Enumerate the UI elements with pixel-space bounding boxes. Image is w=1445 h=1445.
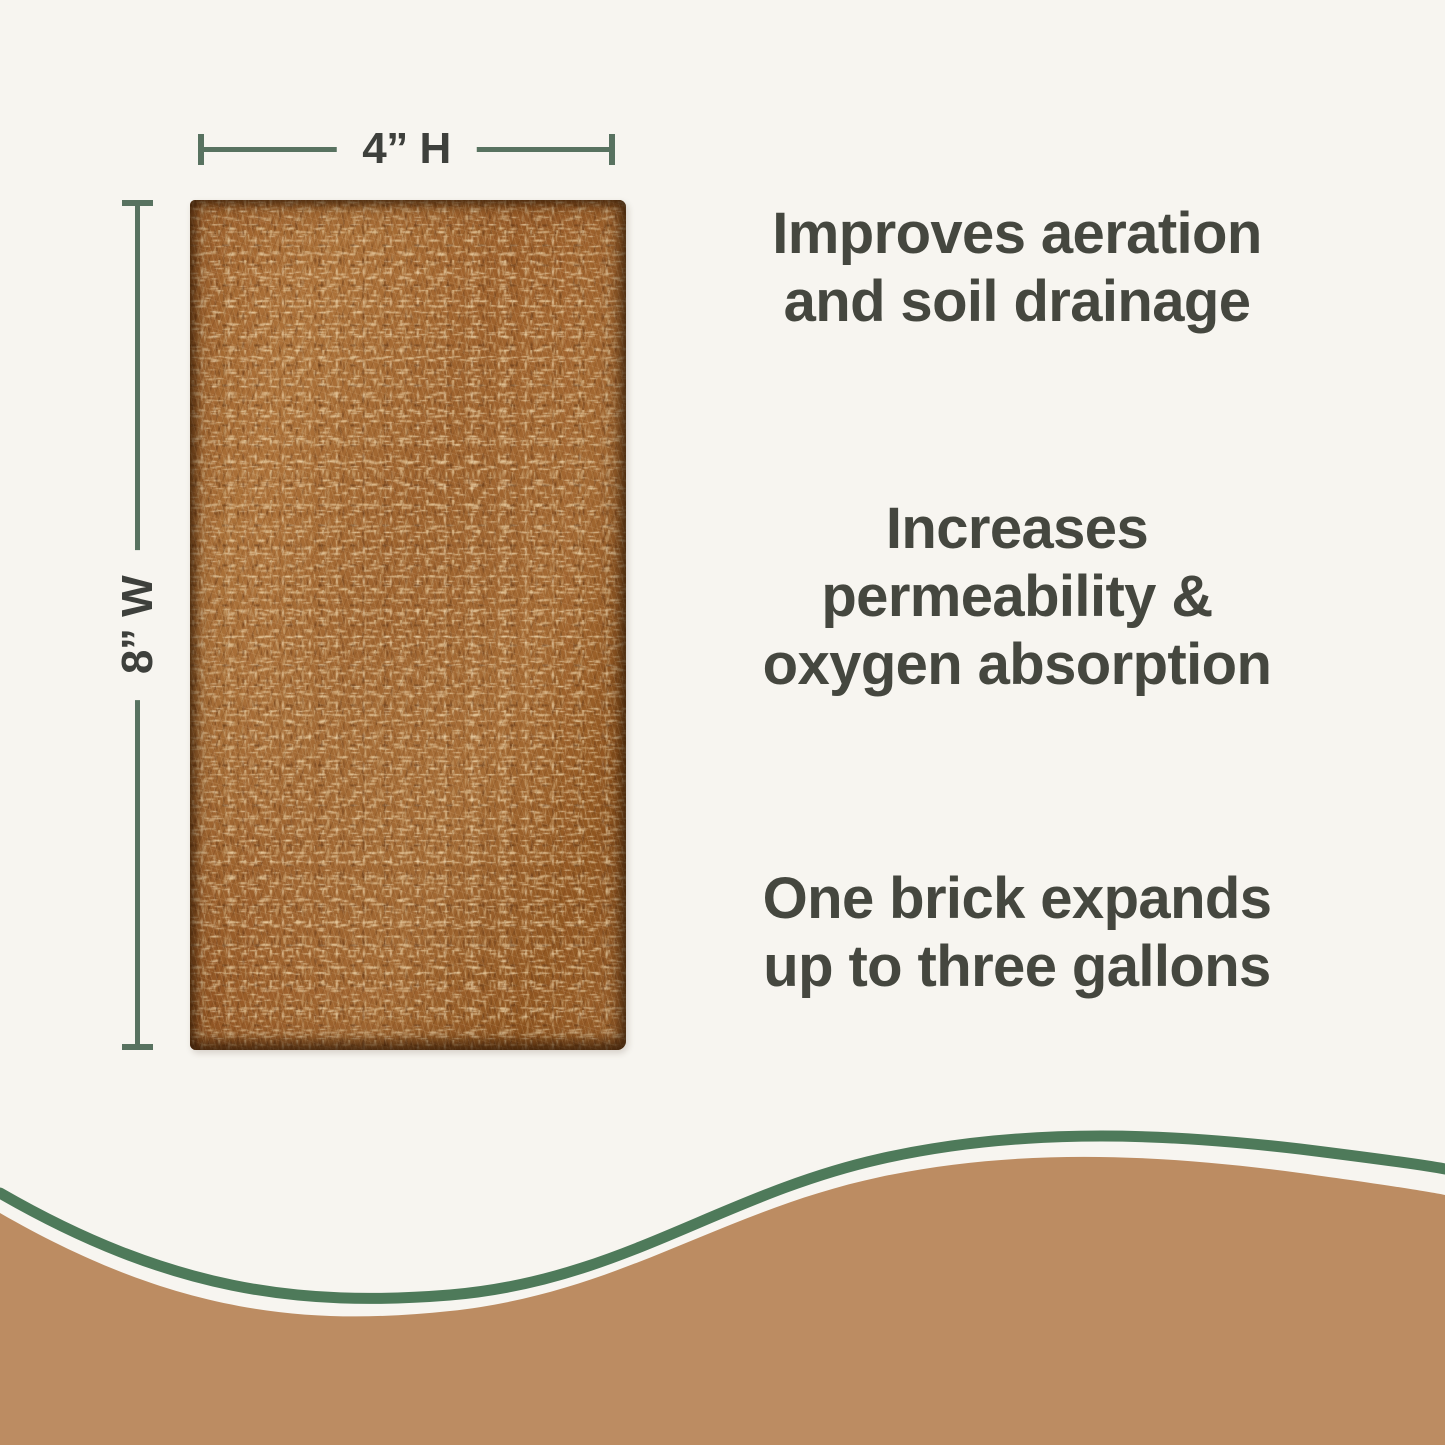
feature-line: Increases — [672, 495, 1362, 563]
feature-line: and soil drainage — [672, 268, 1362, 336]
feature-list: Improves aeration and soil drainage Incr… — [672, 0, 1362, 1060]
wave-fill-shape — [0, 1157, 1445, 1445]
feature-line: permeability & — [672, 563, 1362, 631]
dimension-cap-left — [198, 134, 204, 165]
dimension-line-horizontal: 4” H — [198, 134, 615, 164]
feature-line: Improves aeration — [672, 200, 1362, 268]
infographic-canvas: 4” H 8” W Improves aeration and soil dra… — [0, 0, 1445, 1445]
dimension-cap-top — [122, 200, 153, 206]
dimension-label-width: 8” W — [116, 550, 160, 700]
dimension-cap-bottom — [122, 1044, 153, 1050]
coir-brick-image — [190, 200, 626, 1050]
feature-line: up to three gallons — [672, 933, 1362, 1001]
feature-line: One brick expands — [672, 865, 1362, 933]
feature-aeration: Improves aeration and soil drainage — [672, 200, 1362, 336]
wave-divider — [0, 1115, 1445, 1445]
dimension-line-vertical: 8” W — [122, 200, 153, 1050]
feature-line: oxygen absorption — [672, 631, 1362, 699]
feature-permeability: Increases permeability & oxygen absorpti… — [672, 495, 1362, 699]
feature-expansion: One brick expands up to three gallons — [672, 865, 1362, 1001]
dimension-label-height: 4” H — [336, 127, 476, 171]
dimension-cap-right — [609, 134, 615, 165]
wave-divider-svg — [0, 1115, 1445, 1445]
